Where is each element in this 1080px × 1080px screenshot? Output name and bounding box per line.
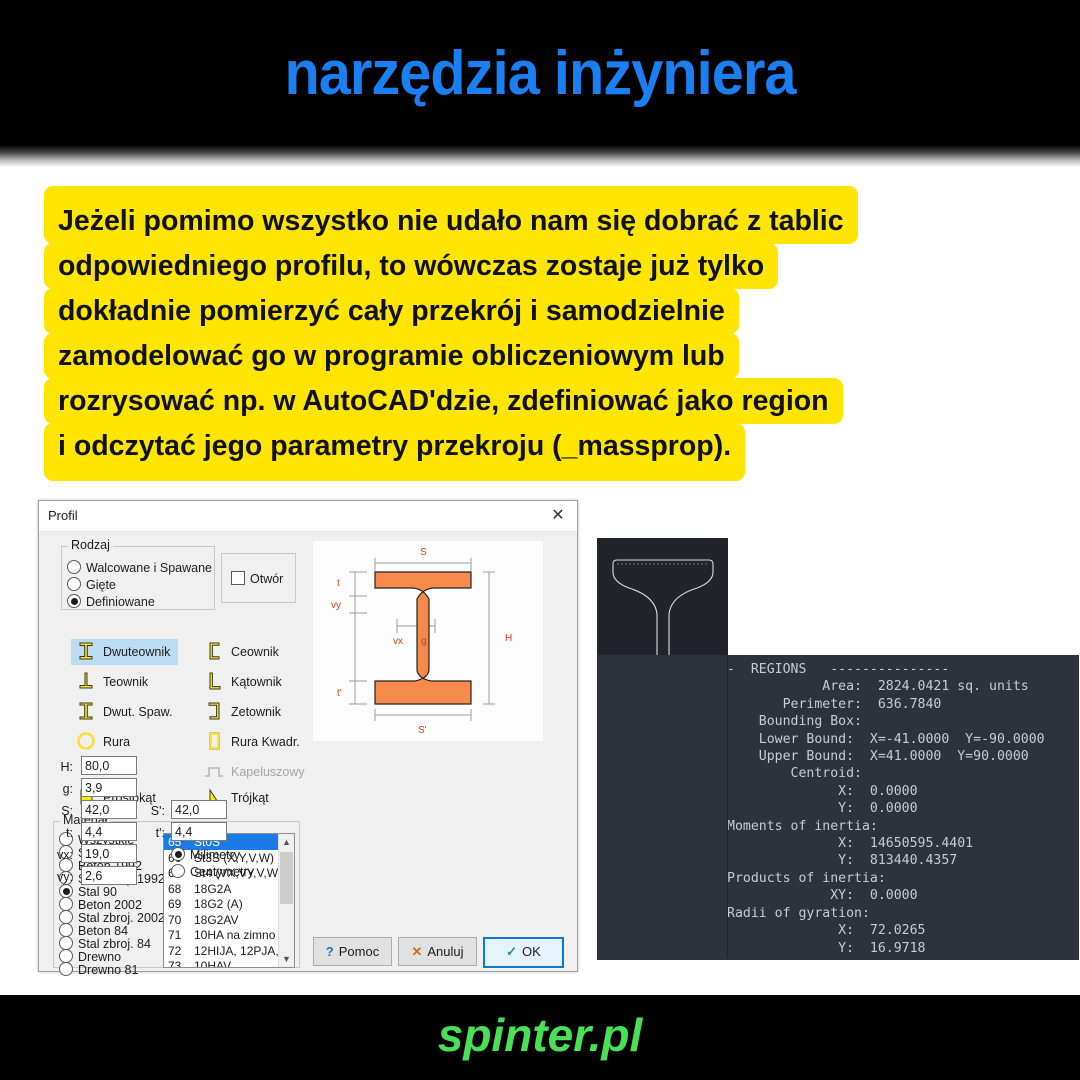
profile-type-label: Dwuteownik: [103, 645, 170, 659]
footer-bar: spinter.pl: [0, 995, 1080, 1080]
radio-dot-icon: [67, 560, 81, 574]
autocad-massprop-console: - REGIONS --------------- Area: 2824.042…: [727, 655, 1079, 960]
profile-type-label: Kątownik: [231, 675, 282, 689]
paragraph-line: odpowiedniego profilu, to wówczas zostaj…: [44, 243, 778, 289]
list-item-number: 71: [168, 928, 181, 942]
profile-type-rura-kwadr[interactable]: Rura Kwadr.: [199, 729, 306, 755]
radio-dot-icon: [59, 884, 73, 898]
list-item-number: 73: [168, 959, 181, 968]
list-item[interactable]: 7212HIJA, 12PJA, 1: [164, 943, 294, 959]
help-button-label: Pomoc: [339, 944, 379, 959]
field-label-t-prime: t':: [139, 826, 165, 840]
list-item-label: 10HA na zimno: [194, 928, 275, 942]
profile-type-dwuteownik[interactable]: Dwuteownik: [71, 639, 178, 665]
profile-type-label: Zetownik: [231, 705, 281, 719]
cancel-button-label: Anuluj: [427, 944, 463, 959]
cancel-button[interactable]: ✕Anuluj: [398, 937, 477, 966]
profile-type-label: Kapeluszowy: [231, 765, 305, 779]
z-section-icon: [201, 700, 227, 722]
checkbox-otwor[interactable]: Otwór: [231, 571, 283, 586]
radio-centymetry[interactable]: Centymetry: [171, 864, 254, 879]
console-left-fill: [597, 655, 727, 960]
chevron-up-icon[interactable]: ▲: [279, 834, 294, 850]
radio-label: Centymetry: [190, 865, 254, 879]
listbox-scrollbar[interactable]: ▲ ▼: [278, 834, 294, 967]
profile-type-label: Rura Kwadr.: [231, 735, 300, 749]
radio-dot-icon: [171, 864, 185, 878]
field-label-H: H:: [47, 760, 73, 774]
checkbox-box-icon: [231, 571, 245, 585]
diagram-label-S: S: [420, 547, 427, 558]
round-tube-icon: [73, 730, 99, 752]
field-label-S: S:: [47, 804, 73, 818]
diagram-label-H: H: [505, 633, 512, 644]
profile-type-kapeluszowy: Kapeluszowy: [199, 759, 316, 785]
page-title: narzędzia inżyniera: [38, 38, 1042, 109]
profile-type-zetownik[interactable]: Zetownik: [199, 699, 306, 725]
radio-dot-icon: [171, 847, 185, 861]
header-gradient-divider: [0, 145, 1080, 167]
paragraph-line: dokładnie pomierzyć cały przekrój i samo…: [44, 288, 739, 334]
scrollbar-thumb[interactable]: [280, 852, 293, 904]
paragraph-line: zamodelować go w programie obliczeniowym…: [44, 333, 739, 379]
field-label-t: t:: [47, 826, 73, 840]
list-item[interactable]: 6918G2 (A): [164, 896, 294, 912]
list-item[interactable]: 6818G2A: [164, 881, 294, 897]
dialog-title: Profil: [48, 508, 78, 523]
field-label-S-prime: S':: [139, 804, 165, 818]
diagram-label-t: t: [337, 578, 340, 589]
profile-type-rura[interactable]: Rura: [71, 729, 178, 755]
radio-giete[interactable]: Gięte: [67, 577, 116, 592]
diagram-label-vy: vy: [331, 600, 341, 611]
ok-button[interactable]: ✓OK: [483, 937, 564, 968]
welded-i-beam-icon: [73, 700, 99, 722]
radio-label: Gięte: [86, 578, 116, 592]
list-item-number: 70: [168, 913, 181, 927]
field-label-g: g:: [47, 782, 73, 796]
list-item-label: 18G2 (A): [194, 897, 243, 911]
field-vy[interactable]: 2,6: [81, 866, 137, 885]
paragraph-line: rozrysować np. w AutoCAD'dzie, zdefiniow…: [44, 378, 843, 424]
radio-dot-icon: [59, 910, 73, 924]
profile-type-label: Dwut. Spaw.: [103, 705, 172, 719]
radio-dot-icon: [67, 577, 81, 591]
list-item[interactable]: 7110HA na zimno: [164, 927, 294, 943]
c-channel-icon: [201, 640, 227, 662]
profile-type-dwut-spaw[interactable]: Dwut. Spaw.: [71, 699, 178, 725]
field-t[interactable]: 4,4: [81, 822, 137, 841]
field-g[interactable]: 3,9: [81, 778, 137, 797]
question-mark-icon: ?: [326, 944, 334, 959]
highlighted-paragraph: Jeżeli pomimo wszystko nie udało nam się…: [44, 186, 1024, 480]
list-item-number: 68: [168, 882, 181, 896]
profile-type-label: Rura: [103, 735, 130, 749]
checkbox-label: Otwór: [250, 572, 283, 586]
field-t-prime[interactable]: 4,4: [171, 822, 227, 841]
square-tube-icon: [201, 730, 227, 752]
profile-type-teownik[interactable]: Teownik: [71, 669, 178, 695]
check-icon: ✓: [506, 944, 517, 959]
list-item[interactable]: 7310HAV: [164, 958, 294, 968]
help-button[interactable]: ?Pomoc: [313, 937, 392, 966]
profile-type-label: Ceownik: [231, 645, 279, 659]
radio-dot-icon: [67, 594, 81, 608]
rodzaj-legend: Rodzaj: [68, 538, 113, 552]
paragraph-line: i odczytać jego parametry przekroju (_ma…: [44, 423, 745, 481]
list-item-number: 69: [168, 897, 181, 911]
brand-logo: spinter.pl: [0, 1008, 1080, 1062]
field-label-vx: vx:: [47, 848, 73, 862]
angle-icon: [201, 670, 227, 692]
diagram-label-t-prime: t': [337, 688, 342, 699]
radio-dot-icon: [59, 897, 73, 911]
diagram-label-S-prime: S': [418, 725, 427, 736]
field-S[interactable]: 42,0: [81, 800, 137, 819]
radio-label: Drewno 81: [78, 963, 138, 977]
i-beam-icon: [73, 640, 99, 662]
t-beam-icon: [73, 670, 99, 692]
list-item-label: 10HAV: [194, 959, 231, 968]
header-bar: narzędzia inżyniera: [0, 0, 1080, 145]
radio-dot-icon: [59, 936, 73, 950]
radio-dot-icon: [59, 962, 73, 976]
radio-definiowane[interactable]: Definiowane: [67, 594, 155, 609]
close-icon[interactable]: ✕: [543, 504, 573, 528]
profile-type-katownik[interactable]: Kątownik: [199, 669, 306, 695]
list-item-label: 12HIJA, 12PJA, 1: [194, 944, 289, 958]
close-x-icon: ✕: [411, 944, 422, 959]
radio-dot-icon: [59, 923, 73, 937]
list-item-label: 18G2A: [194, 882, 231, 896]
material-radio-drewno-81[interactable]: Drewno 81: [59, 962, 138, 977]
profile-type-ceownik[interactable]: Ceownik: [199, 639, 306, 665]
ok-button-label: OK: [522, 944, 541, 959]
diagram-label-g: g: [421, 636, 427, 647]
radio-label: Walcowane i Spawane: [86, 561, 212, 575]
chevron-down-icon[interactable]: ▼: [279, 951, 294, 967]
field-vx[interactable]: 19,0: [81, 844, 137, 863]
profile-type-label: Trójkąt: [231, 791, 269, 805]
field-H[interactable]: 80,0: [81, 756, 137, 775]
profile-diagram: S t vy vx g H t' S': [313, 541, 543, 741]
radio-walcowane-i-spawane[interactable]: Walcowane i Spawane: [67, 560, 212, 575]
paragraph-line: Jeżeli pomimo wszystko nie udało nam się…: [44, 186, 858, 244]
list-item[interactable]: 7018G2AV: [164, 912, 294, 928]
diagram-label-vx: vx: [393, 636, 403, 647]
field-label-vy: vy:: [47, 870, 73, 884]
dialog-titlebar: Profil ✕: [39, 501, 577, 532]
radio-label: Milimetry: [190, 848, 240, 862]
hat-section-icon: [201, 760, 227, 782]
radio-label: Definiowane: [86, 595, 155, 609]
field-S-prime[interactable]: 42,0: [171, 800, 227, 819]
profile-type-label: Teownik: [103, 675, 148, 689]
radio-dot-icon: [59, 949, 73, 963]
list-item-number: 72: [168, 944, 181, 958]
list-item-label: 18G2AV: [194, 913, 238, 927]
radio-milimetry[interactable]: Milimetry: [171, 847, 240, 862]
massprop-output: - REGIONS --------------- Area: 2824.042…: [727, 655, 1079, 957]
